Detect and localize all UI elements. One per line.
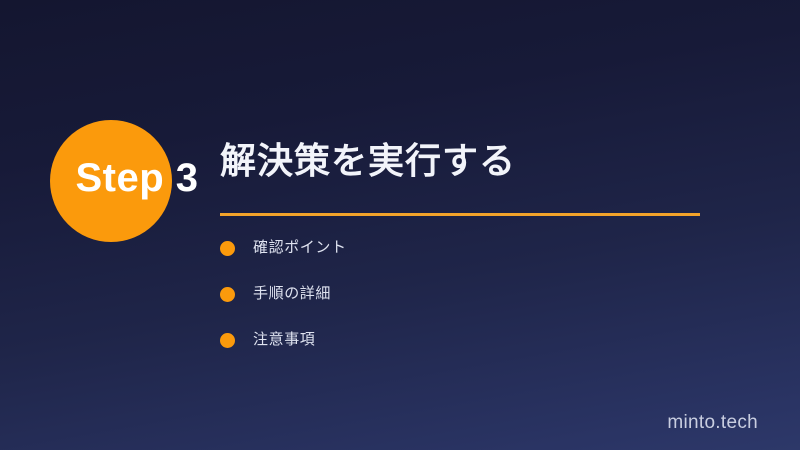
dot-icon (220, 333, 235, 348)
list-item: 確認ポイント (220, 235, 700, 261)
list-item: 手順の詳細 (220, 281, 700, 307)
list-item: 注意事項 (220, 327, 700, 353)
title-divider (220, 213, 700, 216)
presentation-slide: Step 3 解決策を実行する 確認ポイント 手順の詳細 注意事項 minto.… (0, 0, 800, 450)
slide-title: 解決策を実行する (220, 138, 760, 183)
title-block: 解決策を実行する (220, 138, 760, 183)
bullet-list: 確認ポイント 手順の詳細 注意事項 (220, 235, 700, 373)
list-item-label: 手順の詳細 (253, 281, 331, 307)
list-item-label: 確認ポイント (253, 235, 347, 261)
dot-icon (220, 287, 235, 302)
footer-brand: minto.tech (667, 412, 758, 434)
list-item-label: 注意事項 (253, 327, 315, 353)
step-badge-label: Step 3 (42, 150, 232, 206)
dot-icon (220, 241, 235, 256)
